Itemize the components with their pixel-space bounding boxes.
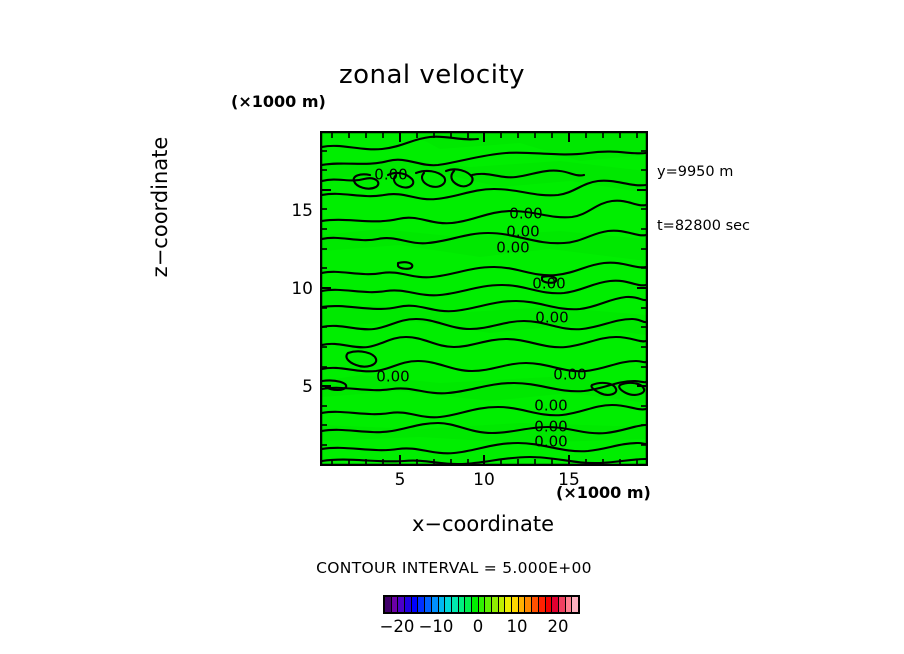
colorbar-cell-3 bbox=[405, 597, 412, 612]
page-title: zonal velocity bbox=[0, 60, 904, 90]
annotation-block: y=9950 m t=82800 sec bbox=[657, 127, 750, 271]
colorbar bbox=[383, 595, 580, 614]
colorbar-cell-11 bbox=[459, 597, 466, 612]
colorbar-cell-16 bbox=[492, 597, 499, 612]
colorbar-cell-13 bbox=[472, 597, 479, 612]
contour-label: 0.00 bbox=[551, 368, 588, 383]
contour-interval-text: CONTOUR INTERVAL = 5.000E+00 bbox=[316, 559, 592, 577]
colorbar-cell-26 bbox=[559, 597, 566, 612]
colorbar-cell-20 bbox=[519, 597, 526, 612]
colorbar-cell-5 bbox=[418, 597, 425, 612]
colorbar-tick-label-minus10: −10 bbox=[413, 617, 459, 636]
colorbar-tick-label-10: 10 bbox=[494, 617, 540, 636]
colorbar-cell-8 bbox=[439, 597, 446, 612]
contour-label: 0.00 bbox=[530, 277, 567, 292]
colorbar-cell-6 bbox=[425, 597, 432, 612]
plot-title-text: zonal velocity bbox=[339, 60, 525, 90]
x-axis-units-label: (×1000 m) bbox=[556, 483, 651, 502]
y-tick-label-15: 15 bbox=[273, 201, 313, 221]
colorbar-swatches bbox=[383, 595, 580, 614]
colorbar-cell-4 bbox=[412, 597, 419, 612]
contour-label: 0.00 bbox=[532, 399, 569, 414]
colorbar-cell-17 bbox=[499, 597, 506, 612]
contour-label: 0.00 bbox=[374, 370, 411, 385]
colorbar-tick-label-20: 20 bbox=[535, 617, 581, 636]
colorbar-cell-23 bbox=[539, 597, 546, 612]
contour-label: 0.00 bbox=[533, 311, 570, 326]
y-tick-label-10: 10 bbox=[273, 279, 313, 299]
colorbar-cell-10 bbox=[452, 597, 459, 612]
colorbar-cell-25 bbox=[552, 597, 559, 612]
colorbar-cell-18 bbox=[505, 597, 512, 612]
colorbar-cell-15 bbox=[485, 597, 492, 612]
colorbar-cell-2 bbox=[398, 597, 405, 612]
colorbar-cell-7 bbox=[432, 597, 439, 612]
contour-label: 0.00 bbox=[532, 435, 569, 450]
colorbar-cell-28 bbox=[572, 597, 578, 612]
contour-label: 0.00 bbox=[507, 207, 544, 222]
plot-area: 0.000.000.000.000.000.000.000.000.000.00… bbox=[320, 131, 648, 466]
x-tick-label-10: 10 bbox=[464, 470, 504, 490]
x-tick-label-5: 5 bbox=[380, 470, 420, 490]
colorbar-cell-21 bbox=[525, 597, 532, 612]
annotation-y-level: y=9950 m bbox=[657, 163, 750, 181]
colorbar-cell-12 bbox=[465, 597, 472, 612]
contour-label: 0.00 bbox=[504, 225, 541, 240]
colorbar-cell-27 bbox=[566, 597, 573, 612]
colorbar-cell-9 bbox=[445, 597, 452, 612]
y-tick-label-5: 5 bbox=[273, 377, 313, 397]
colorbar-cell-24 bbox=[546, 597, 553, 612]
annotation-time: t=82800 sec bbox=[657, 217, 750, 235]
contour-label: 0.00 bbox=[372, 168, 409, 183]
colorbar-cell-19 bbox=[512, 597, 519, 612]
contour-interval-label: CONTOUR INTERVAL = 5.000E+00 bbox=[0, 559, 904, 577]
x-axis-title: x−coordinate bbox=[318, 512, 648, 536]
contour-plot-figure: zonal velocity (×1000 m) y=9950 m t=8280… bbox=[0, 0, 904, 654]
colorbar-cell-1 bbox=[392, 597, 399, 612]
colorbar-cell-0 bbox=[385, 597, 392, 612]
contour-label: 0.00 bbox=[494, 241, 531, 256]
y-axis-units-label: (×1000 m) bbox=[231, 92, 326, 111]
colorbar-cell-14 bbox=[479, 597, 486, 612]
y-axis-title: z−coordinate bbox=[148, 42, 172, 372]
colorbar-cell-22 bbox=[532, 597, 539, 612]
contour-field-svg bbox=[320, 131, 648, 466]
